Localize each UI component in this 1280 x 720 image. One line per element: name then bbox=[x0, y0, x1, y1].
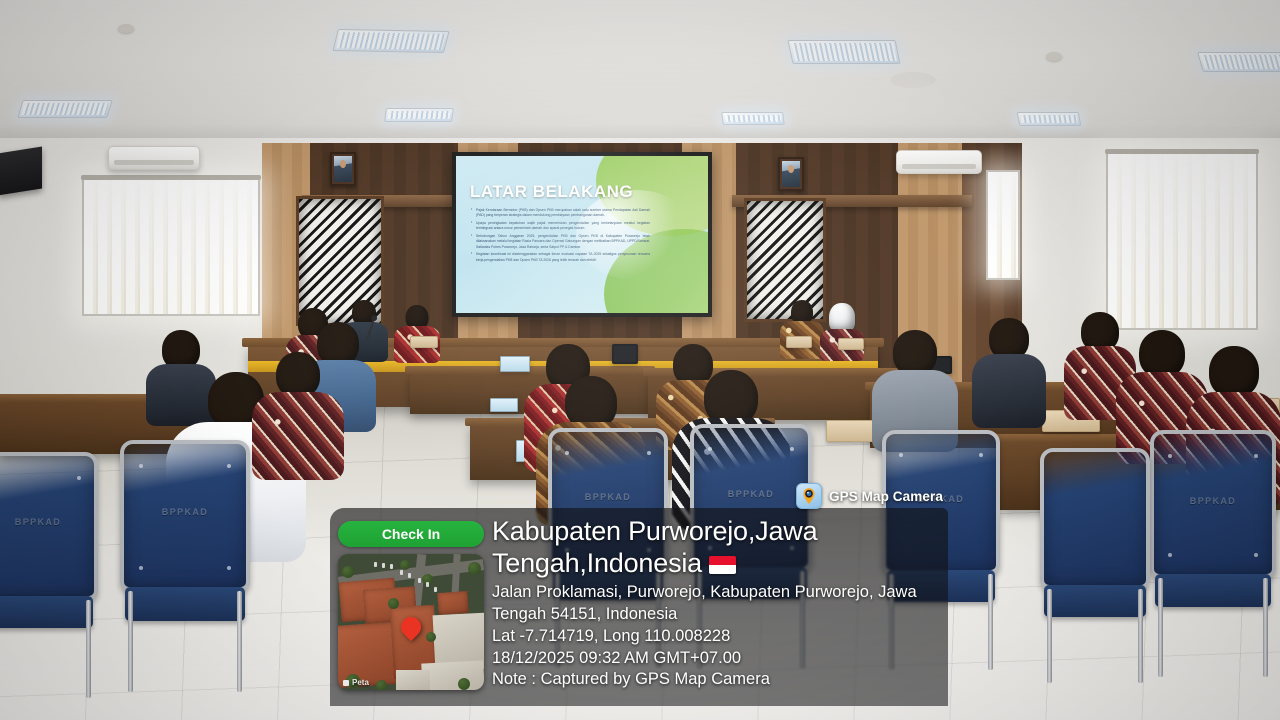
air-conditioner bbox=[896, 150, 982, 174]
location-coordinates: Lat -7.714719, Long 110.008228 bbox=[492, 626, 940, 648]
slide-bullet: Sehubungan Tahun Anggaran 2025, pengenda… bbox=[471, 234, 650, 250]
smoke-detector-icon bbox=[1046, 52, 1062, 61]
map-attribution: Peta bbox=[343, 678, 369, 687]
desk-name-plate bbox=[786, 336, 812, 348]
laptop bbox=[490, 398, 518, 412]
ceiling-light bbox=[787, 40, 900, 64]
gps-panel-right: Kabupaten Purworejo,Jawa Tengah,Indonesi… bbox=[492, 516, 940, 691]
slide-title: LATAR BELAKANG bbox=[470, 182, 633, 202]
framed-portrait bbox=[330, 152, 356, 186]
map-thumbnail[interactable]: Peta bbox=[338, 554, 484, 690]
chair: BPPKAD bbox=[1150, 430, 1276, 636]
projector-screen: LATAR BELAKANG Pajak Kendaraan Bermotor … bbox=[452, 152, 712, 317]
presentation-slide: LATAR BELAKANG Pajak Kendaraan Bermotor … bbox=[456, 156, 708, 313]
indonesia-flag-icon bbox=[709, 556, 736, 574]
presenter-red-batik bbox=[394, 305, 440, 359]
wall-speaker bbox=[0, 147, 42, 196]
gps-panel-left: Check In bbox=[338, 521, 484, 690]
location-title: Kabupaten Purworejo,Jawa Tengah,Indonesi… bbox=[492, 516, 940, 580]
chair-logo: BPPKAD bbox=[1154, 496, 1272, 506]
chair-logo: BPPKAD bbox=[0, 517, 94, 527]
slide-bullet: Kegiatan koordinasi ini diselenggarakan … bbox=[471, 252, 650, 263]
location-title-text: Kabupaten Purworejo,Jawa Tengah,Indonesi… bbox=[492, 516, 817, 578]
attendee bbox=[872, 330, 958, 442]
attendee bbox=[972, 318, 1046, 418]
ceiling-light bbox=[721, 112, 785, 125]
ceiling-light bbox=[1017, 112, 1082, 126]
framed-portrait bbox=[778, 157, 804, 191]
chair-logo: BPPKAD bbox=[552, 492, 664, 502]
gps-brand-label: GPS Map Camera bbox=[829, 489, 943, 504]
slide-bullet: Pajak Kendaraan Bermotor (PKB) dan Opsen… bbox=[471, 208, 650, 219]
air-conditioner bbox=[108, 146, 200, 170]
ceiling-light bbox=[17, 100, 113, 118]
check-in-button[interactable]: Check In bbox=[338, 521, 484, 547]
desk-name-plate bbox=[838, 338, 864, 350]
gps-info-panel: Check In bbox=[330, 508, 948, 706]
chair bbox=[1040, 448, 1150, 644]
chair-logo: BPPKAD bbox=[694, 489, 808, 499]
window-left bbox=[82, 178, 260, 316]
chair: BPPKAD bbox=[120, 440, 250, 650]
attendee bbox=[252, 352, 344, 472]
ceiling-light bbox=[384, 108, 454, 122]
google-logo-mark bbox=[343, 680, 349, 686]
slide-bullet-list: Pajak Kendaraan Bermotor (PKB) dan Opsen… bbox=[471, 208, 650, 265]
ceiling-light bbox=[333, 29, 450, 53]
gps-map-camera-brand: GPS Map Camera bbox=[796, 483, 943, 509]
chair: BPPKAD bbox=[0, 452, 98, 657]
window-right-far bbox=[986, 170, 1020, 280]
ceiling-light bbox=[1197, 52, 1280, 72]
chair-logo: BPPKAD bbox=[124, 507, 246, 517]
ceiling bbox=[0, 0, 1280, 150]
desk-name-plate bbox=[410, 336, 438, 348]
monitor bbox=[612, 344, 638, 364]
location-pin-camera-icon bbox=[796, 483, 822, 509]
ceiling-vent bbox=[890, 72, 936, 88]
capture-note: Note : Captured by GPS Map Camera bbox=[492, 669, 940, 691]
smoke-detector-icon bbox=[118, 24, 134, 33]
map-attribution-label: Peta bbox=[352, 678, 369, 687]
location-address: Jalan Proklamasi, Purworejo, Kabupaten P… bbox=[492, 582, 940, 626]
capture-timestamp: 18/12/2025 09:32 AM GMT+07.00 bbox=[492, 648, 940, 670]
window-right bbox=[1106, 152, 1258, 330]
gps-map-camera-photo: LATAR BELAKANG Pajak Kendaraan Bermotor … bbox=[0, 0, 1280, 720]
slide-bullet: Upaya peningkatan kepatuhan wajib pajak … bbox=[471, 221, 650, 232]
